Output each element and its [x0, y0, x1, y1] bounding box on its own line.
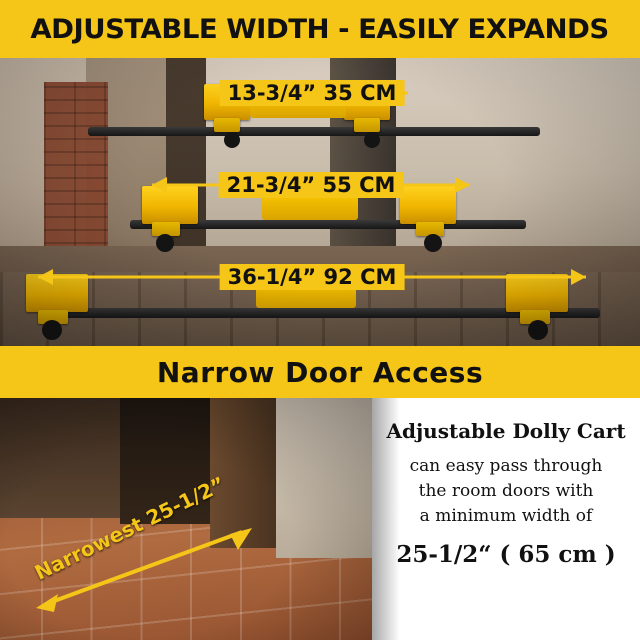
- dimension-arrow-2: 21-3/4” 55 CM: [152, 174, 470, 196]
- mid-banner-text: Narrow Door Access: [157, 356, 483, 389]
- info-panel-body-line-2: the room doors with: [410, 479, 603, 504]
- info-panel-body: can easy pass through the room doors wit…: [410, 454, 603, 529]
- info-panel-body-line-3: a minimum width of: [410, 504, 603, 529]
- info-panel-title: Adjustable Dolly Cart: [386, 418, 625, 444]
- dimension-label-1: 13-3/4” 35 CM: [220, 80, 405, 106]
- dimension-arrow-1: 13-3/4” 35 CM: [216, 82, 408, 104]
- arrowhead-right-2: [455, 177, 470, 193]
- mid-banner: Narrow Door Access: [0, 346, 640, 398]
- narrow-dimension-arrow: Narrowest 25-1/2”: [30, 518, 256, 608]
- dimension-label-2: 21-3/4” 55 CM: [219, 172, 404, 198]
- info-panel-body-line-1: can easy pass through: [410, 454, 603, 479]
- top-banner: ADJUSTABLE WIDTH - EASILY EXPANDS: [0, 0, 640, 58]
- arrowhead-right-3: [571, 269, 586, 285]
- promo-image: ADJUSTABLE WIDTH - EASILY EXPANDS: [0, 0, 640, 640]
- arrowhead-left-2: [152, 177, 167, 193]
- panel-edge-shadow: [372, 398, 400, 640]
- info-panel-highlight: 25-1/2“ ( 65 cm ): [396, 541, 615, 568]
- top-banner-text: ADJUSTABLE WIDTH - EASILY EXPANDS: [31, 14, 609, 45]
- arrowhead-left-3: [38, 269, 53, 285]
- upper-photo: 13-3/4” 35 CM 21-3/4” 55 CM 36-1/4” 92 C…: [0, 58, 640, 346]
- dimension-label-3: 36-1/4” 92 CM: [220, 264, 405, 290]
- doorway-photo: Narrowest 25-1/2”: [0, 398, 372, 640]
- dimension-arrow-3: 36-1/4” 92 CM: [38, 266, 586, 288]
- info-panel: Adjustable Dolly Cart can easy pass thro…: [372, 398, 640, 640]
- lower-section: Narrowest 25-1/2” Adjustable Dolly Cart …: [0, 398, 640, 640]
